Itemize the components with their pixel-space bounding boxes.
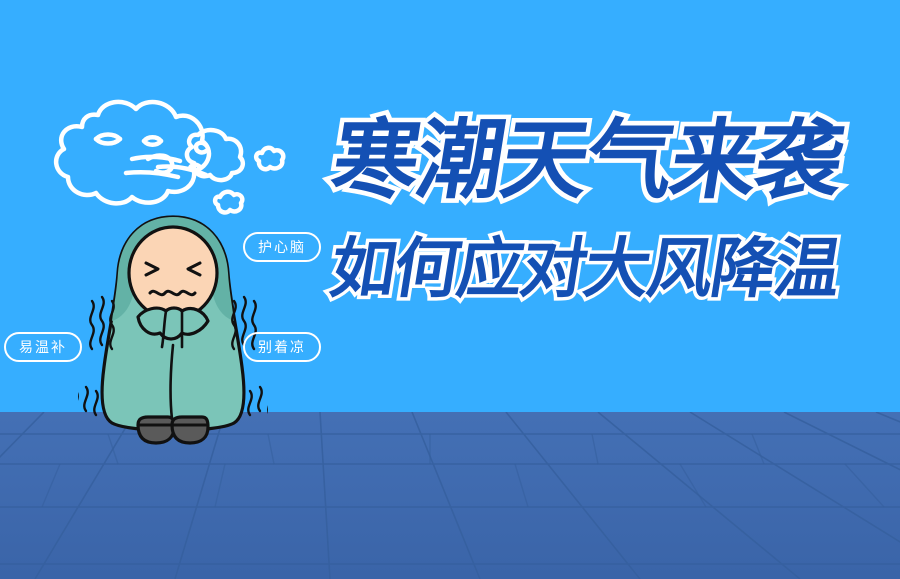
headline-line-1-fill: 寒潮天气来袭 — [326, 118, 848, 205]
badge-biezhaoliang[interactable]: 别着凉 — [243, 332, 321, 362]
poster-canvas: 护心脑 易温补 别着凉 寒潮天气来袭 寒潮天气来袭 如何应对大风降温 如何应对大… — [0, 0, 900, 579]
headline-line-2-fill: 如何应对大风降温 — [326, 236, 844, 301]
headline-group: 寒潮天气来袭 寒潮天气来袭 如何应对大风降温 如何应对大风降温 — [326, 118, 886, 312]
blowing-wind-cloud-icon — [40, 75, 300, 215]
badge-huxinnao[interactable]: 护心脑 — [243, 232, 321, 262]
badge-yiwenbu-label: 易温补 — [19, 340, 67, 354]
badge-biezhaoliang-label: 别着凉 — [258, 340, 306, 354]
shiver-lines-right-lower — [248, 387, 268, 415]
badge-yiwenbu[interactable]: 易温补 — [4, 332, 82, 362]
shivering-person-in-blanket-illustration — [78, 205, 268, 455]
headline-line-1: 寒潮天气来袭 寒潮天气来袭 — [326, 118, 886, 194]
shiver-lines-left-upper — [90, 297, 113, 349]
headline-line-2: 如何应对大风降温 如何应对大风降温 — [326, 236, 886, 312]
shiver-lines-left-lower — [78, 387, 98, 415]
badge-huxinnao-label: 护心脑 — [258, 240, 306, 254]
